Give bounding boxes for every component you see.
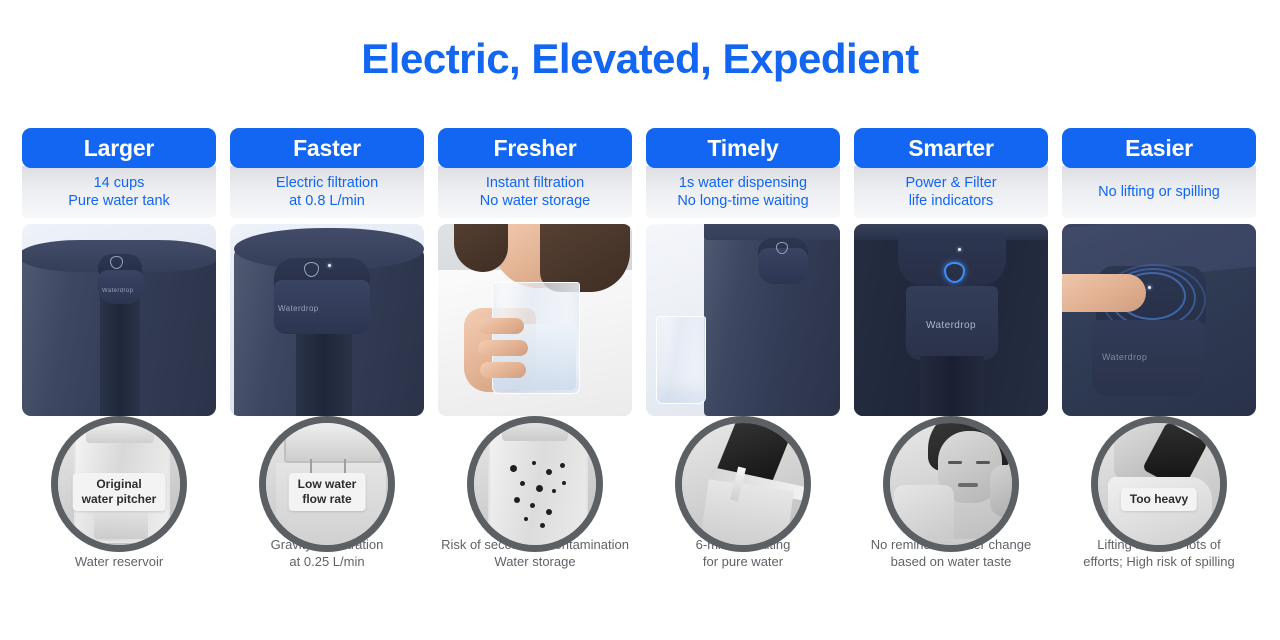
person-mouth: [958, 483, 978, 487]
page-title: Electric, Elevated, Expedient: [0, 0, 1280, 90]
contamination-speck: [530, 503, 535, 508]
pitcher-lid: [502, 417, 568, 441]
contamination-speck: [524, 517, 528, 521]
column-header-pill: Smarter: [854, 128, 1048, 168]
drawback-circle-inset: Original water pitcher: [51, 416, 187, 552]
subtitle-line-2: life indicators: [909, 192, 994, 210]
person-eye: [948, 461, 962, 464]
brand-label: Waterdrop: [1102, 352, 1147, 362]
person-eye: [976, 461, 990, 464]
comparison-column-faster: Faster Electric filtration at 0.8 L/min …: [230, 128, 424, 416]
drawback-captions: 6 cups Water reservoir Gravity-fed filtr…: [22, 536, 1258, 570]
caption-line-2: Water storage: [438, 553, 632, 570]
comparison-column-timely: Timely 1s water dispensing No long-time …: [646, 128, 840, 416]
dispenser-stem: [920, 356, 984, 416]
contamination-speck: [532, 461, 536, 465]
contamination-speck: [520, 481, 525, 486]
product-photo-woman-holding-glass: [438, 224, 632, 416]
circle-photo-contaminated-pitcher: [474, 423, 596, 545]
contamination-speck: [546, 469, 552, 475]
contamination-speck: [536, 485, 543, 492]
brand-label: Waterdrop: [926, 320, 976, 331]
contamination-speck: [560, 463, 565, 468]
badge-line-1: Original: [82, 477, 157, 492]
column-subtitle: Instant filtration No water storage: [438, 166, 632, 218]
empty-glass: [656, 316, 706, 404]
contamination-speck: [546, 509, 552, 515]
column-subtitle: Electric filtration at 0.8 L/min: [230, 166, 424, 218]
drawback-badge: Low water flow rate: [289, 473, 366, 511]
subtitle-line-2: at 0.8 L/min: [289, 192, 365, 210]
column-header-pill: Timely: [646, 128, 840, 168]
drawback-circle-inset: [883, 416, 1019, 552]
product-photo-indicator-panel: Waterdrop: [854, 224, 1048, 416]
filter-housing: [284, 419, 382, 463]
pitcher-lid: [86, 423, 154, 443]
power-led-icon: [328, 264, 331, 267]
circle-photo-woman-tasting: [890, 423, 1012, 545]
comparison-column-smarter: Smarter Power & Filter life indicators W…: [854, 128, 1048, 416]
drawback-circle-inset: [675, 416, 811, 552]
badge-line-1: Low water: [298, 477, 357, 492]
drawback-circle-inset: [467, 416, 603, 552]
drawback-circle-inset: Too heavy: [1091, 416, 1227, 552]
brand-label: Waterdrop: [102, 288, 133, 294]
person-finger: [1062, 274, 1146, 312]
pitcher-base: [94, 511, 148, 539]
comparison-column-easier: Easier No lifting or spilling Waterdrop: [1062, 128, 1256, 416]
person-finger: [478, 340, 528, 356]
comparison-column-fresher: Fresher Instant filtration No water stor…: [438, 128, 632, 416]
caption-line-2: Water reservoir: [22, 553, 216, 570]
dispenser-stem: [296, 320, 352, 416]
brand-label: Waterdrop: [278, 304, 319, 313]
dispenser-spout: [98, 270, 144, 304]
column-header-pill: Faster: [230, 128, 424, 168]
subtitle-line-2: No water storage: [480, 192, 590, 210]
contamination-speck: [552, 489, 556, 493]
comparison-column-larger: Larger 14 cups Pure water tank Waterdrop…: [22, 128, 216, 416]
contamination-speck: [510, 465, 517, 472]
subtitle-line-1: Electric filtration: [276, 174, 378, 192]
badge-line-1: Too heavy: [1130, 492, 1188, 507]
subtitle-line-2: No long-time waiting: [677, 192, 808, 210]
power-led-icon: [958, 248, 961, 251]
subtitle-line-1: 1s water dispensing: [679, 174, 807, 192]
column-header-pill: Easier: [1062, 128, 1256, 168]
subtitle-line-1: No lifting or spilling: [1098, 183, 1220, 201]
person-finger: [480, 362, 526, 378]
product-photo-finger-pressing: Waterdrop: [1062, 224, 1256, 416]
column-subtitle: No lifting or spilling: [1062, 166, 1256, 218]
caption-line-2: at 0.25 L/min: [230, 553, 424, 570]
caption-line-2: for pure water: [646, 553, 840, 570]
subtitle-line-2: Pure water tank: [68, 192, 170, 210]
product-photo-dispenser-with-glass: [646, 224, 840, 416]
product-photo-head-closeup: Waterdrop: [230, 224, 424, 416]
badge-line-2: flow rate: [298, 492, 357, 507]
column-subtitle: Power & Filter life indicators: [854, 166, 1048, 218]
subtitle-line-1: 14 cups: [94, 174, 145, 192]
badge-line-2: water pitcher: [82, 492, 157, 507]
subtitle-line-1: Instant filtration: [486, 174, 584, 192]
product-photo-wide-tank: Waterdrop: [22, 224, 216, 416]
column-header-pill: Larger: [22, 128, 216, 168]
subtitle-line-1: Power & Filter: [905, 174, 996, 192]
drawback-circle-inset: Low water flow rate: [259, 416, 395, 552]
drawback-badge: Original water pitcher: [73, 473, 166, 511]
contamination-speck: [540, 523, 545, 528]
person-hand: [990, 465, 1019, 517]
drawback-badge: Too heavy: [1121, 488, 1197, 511]
circle-photo-lifting-pitcher: [1098, 423, 1220, 545]
column-subtitle: 14 cups Pure water tank: [22, 166, 216, 218]
comparison-columns: Larger 14 cups Pure water tank Waterdrop…: [22, 128, 1258, 416]
circle-photo-pouring-water: [682, 423, 804, 545]
caption-line-2: based on water taste: [854, 553, 1048, 570]
column-subtitle: 1s water dispensing No long-time waiting: [646, 166, 840, 218]
column-header-pill: Fresher: [438, 128, 632, 168]
contamination-speck: [514, 497, 520, 503]
caption-line-2: efforts; High risk of spilling: [1062, 553, 1256, 570]
receiving-glass: [700, 479, 794, 552]
contamination-speck: [562, 481, 566, 485]
button-led-icon: [1148, 286, 1151, 289]
person-finger: [478, 318, 524, 334]
